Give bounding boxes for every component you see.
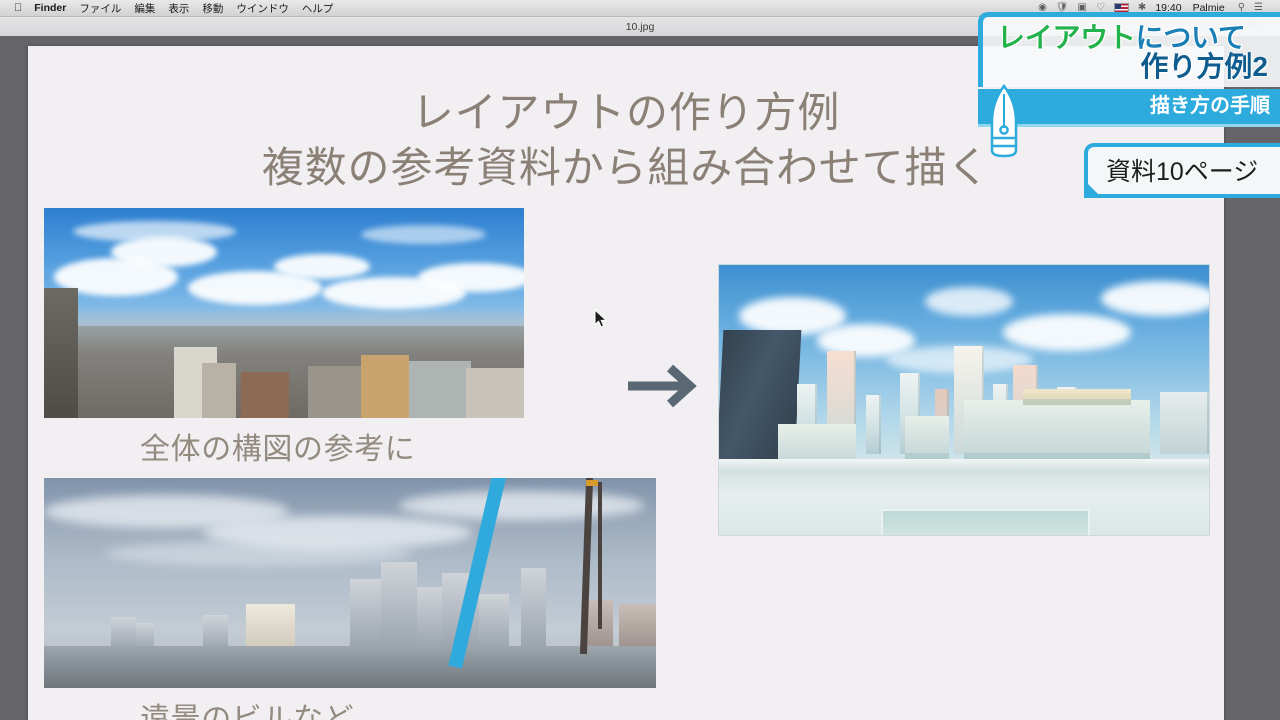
building-shape (1160, 392, 1209, 454)
building-shape (350, 579, 381, 650)
fountain-pen-nib-icon (982, 84, 1026, 158)
menu-item-go[interactable]: 移動 (202, 1, 223, 16)
cloud-shape (399, 491, 644, 520)
page-reference-badge: 資料10ページ (1084, 143, 1280, 198)
menu-item-edit[interactable]: 編集 (134, 1, 155, 16)
building-shape (866, 395, 881, 454)
cloud-shape (1003, 314, 1130, 352)
menu-item-window[interactable]: ウインドウ (236, 1, 289, 16)
illustration-anime-rooftop[interactable] (718, 264, 1210, 536)
screen:  Finder ファイル 編集 表示 移動 ウインドウ ヘルプ ◉ 🛡 ▣ ♡… (0, 0, 1280, 720)
caption-distant: 遠景のビルなど (140, 694, 354, 720)
lesson-overlay: プレビューで開く レイアウトについて 作り方例2 描き方の手順 資料10ページ (966, 12, 1280, 198)
menu-item-finder[interactable]: Finder (34, 2, 66, 14)
apple-logo-icon[interactable]:  (14, 3, 22, 14)
photo-foreground (44, 646, 656, 688)
building-shape (466, 368, 524, 418)
overlay-panel: レイアウトについて 作り方例2 (978, 12, 1280, 87)
caption-composition: 全体の構図の参考に (140, 424, 415, 468)
window-title: 10.jpg (626, 21, 655, 33)
building-shape (246, 604, 295, 650)
overlay-title-part1: レイアウト (997, 22, 1136, 53)
overlay-title: レイアウトについて (997, 23, 1268, 52)
building-shape (905, 416, 949, 459)
right-arrow-icon (626, 358, 708, 414)
menu-item-file[interactable]: ファイル (79, 1, 121, 16)
building-shape (521, 568, 545, 650)
rooftop-pool (881, 509, 1091, 535)
building-shape (964, 400, 1150, 459)
cloud-shape (111, 237, 217, 266)
cloud-shape (418, 263, 524, 292)
building-shape (479, 594, 510, 651)
building-roof-shape (1023, 389, 1131, 405)
photo-skyline-crane[interactable] (44, 478, 656, 688)
building-shape (44, 288, 78, 418)
cloud-shape (925, 287, 1013, 317)
cloud-shape (361, 225, 486, 244)
building-shape (619, 604, 656, 650)
cloud-shape (73, 221, 236, 242)
building-shape (381, 562, 418, 650)
building-shape (361, 355, 409, 418)
menu-item-view[interactable]: 表示 (168, 1, 189, 16)
crane-cable-icon (598, 482, 602, 629)
building-shape (241, 372, 289, 418)
photo-city-wide[interactable] (44, 208, 524, 418)
building-shape (308, 366, 366, 419)
cloud-shape (105, 541, 411, 566)
overlay-subtitle: 作り方例2 (997, 52, 1268, 83)
crane-counterweight (586, 480, 598, 486)
menu-item-help[interactable]: ヘルプ (302, 1, 334, 16)
building-shape (409, 361, 471, 418)
rooftop-parapet (719, 459, 1209, 473)
building-shape (202, 363, 236, 418)
building-shape (203, 615, 227, 651)
mouse-pointer-icon (594, 309, 608, 329)
overlay-title-part2: について (1136, 22, 1246, 53)
overlay-badge-wrap: 資料10ページ (1084, 143, 1280, 198)
